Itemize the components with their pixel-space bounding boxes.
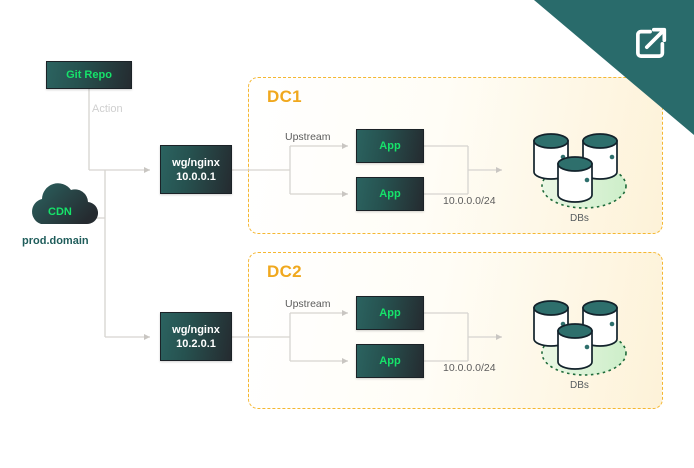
database-cluster-dc1 bbox=[534, 134, 626, 208]
cdn-domain-label: prod.domain bbox=[22, 235, 89, 247]
app-node-dc2-1[interactable]: App bbox=[356, 296, 424, 330]
app-node-dc2-2[interactable]: App bbox=[356, 344, 424, 378]
subnet-label-dc2: 10.0.0.0/24 bbox=[443, 362, 496, 374]
upstream-label-dc2: Upstream bbox=[285, 298, 331, 310]
app-label-dc1-2: App bbox=[379, 187, 400, 201]
app-label-dc2-1: App bbox=[379, 306, 400, 320]
gateway-node-dc1[interactable]: wg/nginx 10.0.0.1 bbox=[160, 145, 232, 194]
upstream-label-dc1: Upstream bbox=[285, 131, 331, 143]
subnet-label-dc1: 10.0.0.0/24 bbox=[443, 195, 496, 207]
app-label-dc1-1: App bbox=[379, 139, 400, 153]
gateway-address-dc1: 10.0.0.1 bbox=[176, 170, 216, 184]
external-link-icon[interactable] bbox=[630, 22, 672, 64]
action-label: Action bbox=[92, 103, 123, 115]
databases-label-dc2: DBs bbox=[570, 380, 589, 391]
gateway-address-dc2: 10.2.0.1 bbox=[176, 337, 216, 351]
databases-label-dc1: DBs bbox=[570, 213, 589, 224]
database-cluster-dc2 bbox=[534, 301, 626, 375]
app-node-dc1-1[interactable]: App bbox=[356, 129, 424, 163]
git-repo-label: Git Repo bbox=[66, 68, 112, 82]
diagram-canvas: DC1 DC2 bbox=[0, 0, 694, 468]
git-repo-node[interactable]: Git Repo bbox=[46, 61, 132, 89]
gateway-name-dc2: wg/nginx bbox=[172, 323, 220, 337]
app-label-dc2-2: App bbox=[379, 354, 400, 368]
gateway-node-dc2[interactable]: wg/nginx 10.2.0.1 bbox=[160, 312, 232, 361]
gateway-name-dc1: wg/nginx bbox=[172, 156, 220, 170]
app-node-dc1-2[interactable]: App bbox=[356, 177, 424, 211]
cdn-label: CDN bbox=[48, 206, 72, 218]
